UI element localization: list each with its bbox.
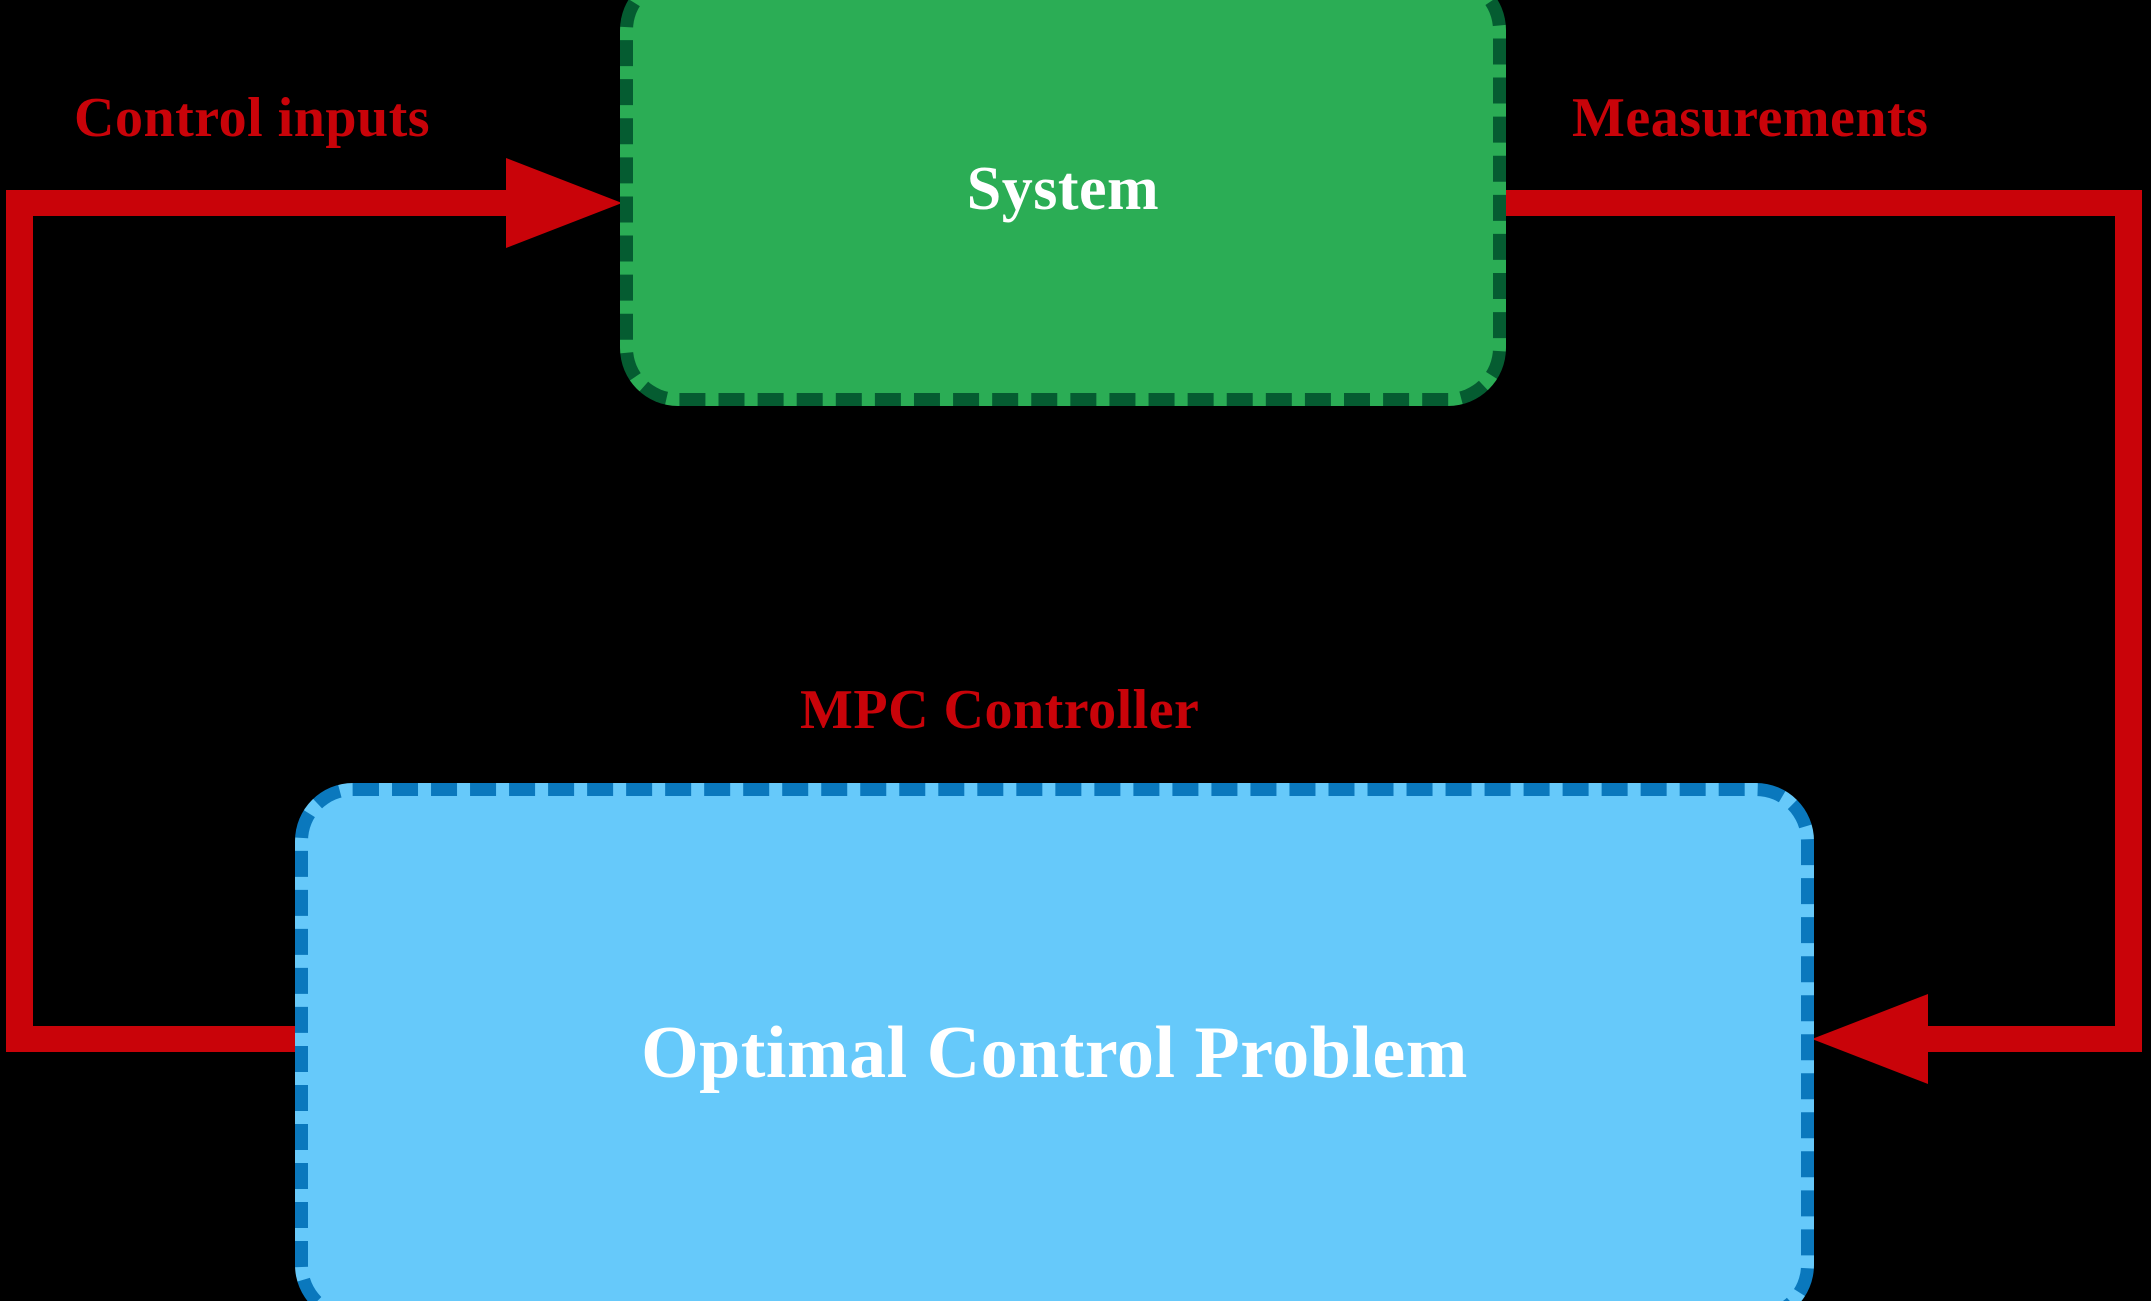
measurements-caption: Measurements <box>1572 90 1928 146</box>
mpc-controller-caption: MPC Controller <box>800 682 1199 738</box>
system-block-label: System <box>967 158 1159 220</box>
measurements-wire-vertical-segment <box>2115 190 2142 1052</box>
measurements-wire-top-segment <box>1500 190 2142 216</box>
measurements-wire-bottom-segment <box>1895 1026 2142 1052</box>
measurements-arrowhead-icon <box>1812 994 1928 1084</box>
control-inputs-wire-bottom-segment <box>6 1026 306 1052</box>
optimal-control-problem-block[interactable]: Optimal Control Problem <box>295 783 1814 1301</box>
control-inputs-caption: Control inputs <box>74 90 430 146</box>
control-inputs-wire-vertical-segment <box>6 190 33 1052</box>
control-inputs-wire-top-segment <box>6 190 506 216</box>
diagram-canvas: System Optimal Control Problem Control i… <box>0 0 2151 1301</box>
control-inputs-arrowhead-icon <box>506 158 622 248</box>
system-block[interactable]: System <box>620 0 1506 406</box>
optimal-control-problem-label: Optimal Control Problem <box>641 1016 1468 1090</box>
